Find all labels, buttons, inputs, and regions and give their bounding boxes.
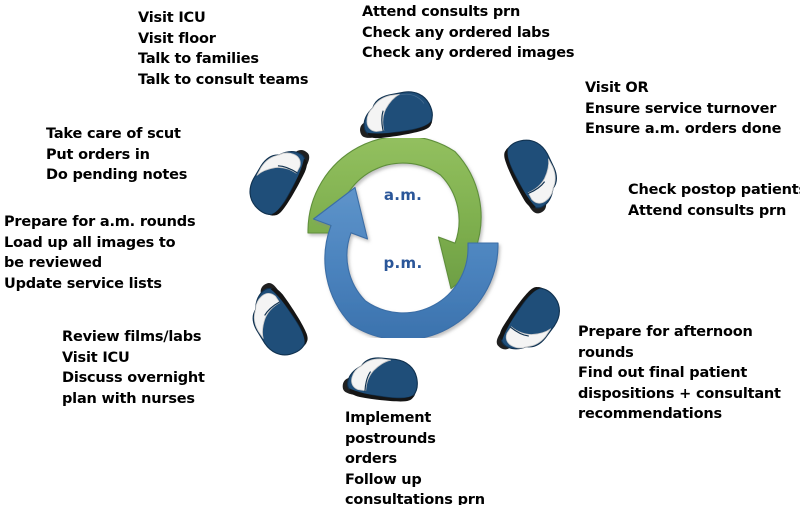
consults-and-labs-tasks: Attend consults prn Check any ordered la… [362, 2, 574, 64]
scut-work-tasks: Take care of scut Put orders in Do pendi… [46, 124, 187, 186]
task-line: rounds [578, 343, 781, 364]
task-line: Ensure a.m. orders done [585, 119, 781, 140]
task-line: Prepare for afternoon [578, 322, 781, 343]
task-line: recommendations [578, 404, 781, 425]
evening-review-tasks: Review films/labs Visit ICU Discuss over… [62, 327, 205, 409]
task-line: Follow up [345, 470, 485, 491]
task-line: Visit floor [138, 29, 308, 50]
task-line: Visit OR [585, 78, 781, 99]
pm-label: p.m. [363, 254, 443, 272]
task-line: postrounds [345, 429, 485, 450]
task-line: Attend consults prn [628, 201, 800, 222]
task-line: dispositions + consultant [578, 384, 781, 405]
postrounds-orders-tasks: Implement postrounds orders Follow up co… [345, 408, 485, 505]
task-line: Visit ICU [138, 8, 308, 29]
cycle-diagram: a.m. p.m. [288, 138, 518, 338]
task-line: Do pending notes [46, 165, 187, 186]
afternoon-rounds-tasks: Prepare for afternoon rounds Find out fi… [578, 322, 781, 425]
clog-top [349, 82, 441, 145]
task-line: Check postop patients [628, 180, 800, 201]
task-line: Check any ordered labs [362, 23, 574, 44]
am-label: a.m. [363, 186, 443, 204]
prepare-am-rounds-tasks: Prepare for a.m. rounds Load up all imag… [4, 212, 195, 294]
morning-rounds-tasks: Visit ICU Visit floor Talk to families T… [138, 8, 308, 90]
task-line: be reviewed [4, 253, 195, 274]
operating-room-tasks: Visit OR Ensure service turnover Ensure … [585, 78, 781, 140]
task-line: Ensure service turnover [585, 99, 781, 120]
task-line: Find out final patient [578, 363, 781, 384]
clog-bottom [335, 346, 427, 409]
task-line: Put orders in [46, 145, 187, 166]
task-line: Take care of scut [46, 124, 187, 145]
task-line: Talk to consult teams [138, 70, 308, 91]
task-line: Update service lists [4, 274, 195, 295]
task-line: Discuss overnight [62, 368, 205, 389]
diagram-canvas: Visit ICU Visit floor Talk to families T… [0, 0, 800, 505]
task-line: Load up all images to [4, 233, 195, 254]
task-line: Talk to families [138, 49, 308, 70]
postop-patients-tasks: Check postop patients Attend consults pr… [628, 180, 800, 221]
task-line: plan with nurses [62, 389, 205, 410]
task-line: orders [345, 449, 485, 470]
task-line: consultations prn [345, 490, 485, 505]
task-line: Review films/labs [62, 327, 205, 348]
task-line: Visit ICU [62, 348, 205, 369]
task-line: Check any ordered images [362, 43, 574, 64]
task-line: Attend consults prn [362, 2, 574, 23]
task-line: Implement [345, 408, 485, 429]
task-line: Prepare for a.m. rounds [4, 212, 195, 233]
